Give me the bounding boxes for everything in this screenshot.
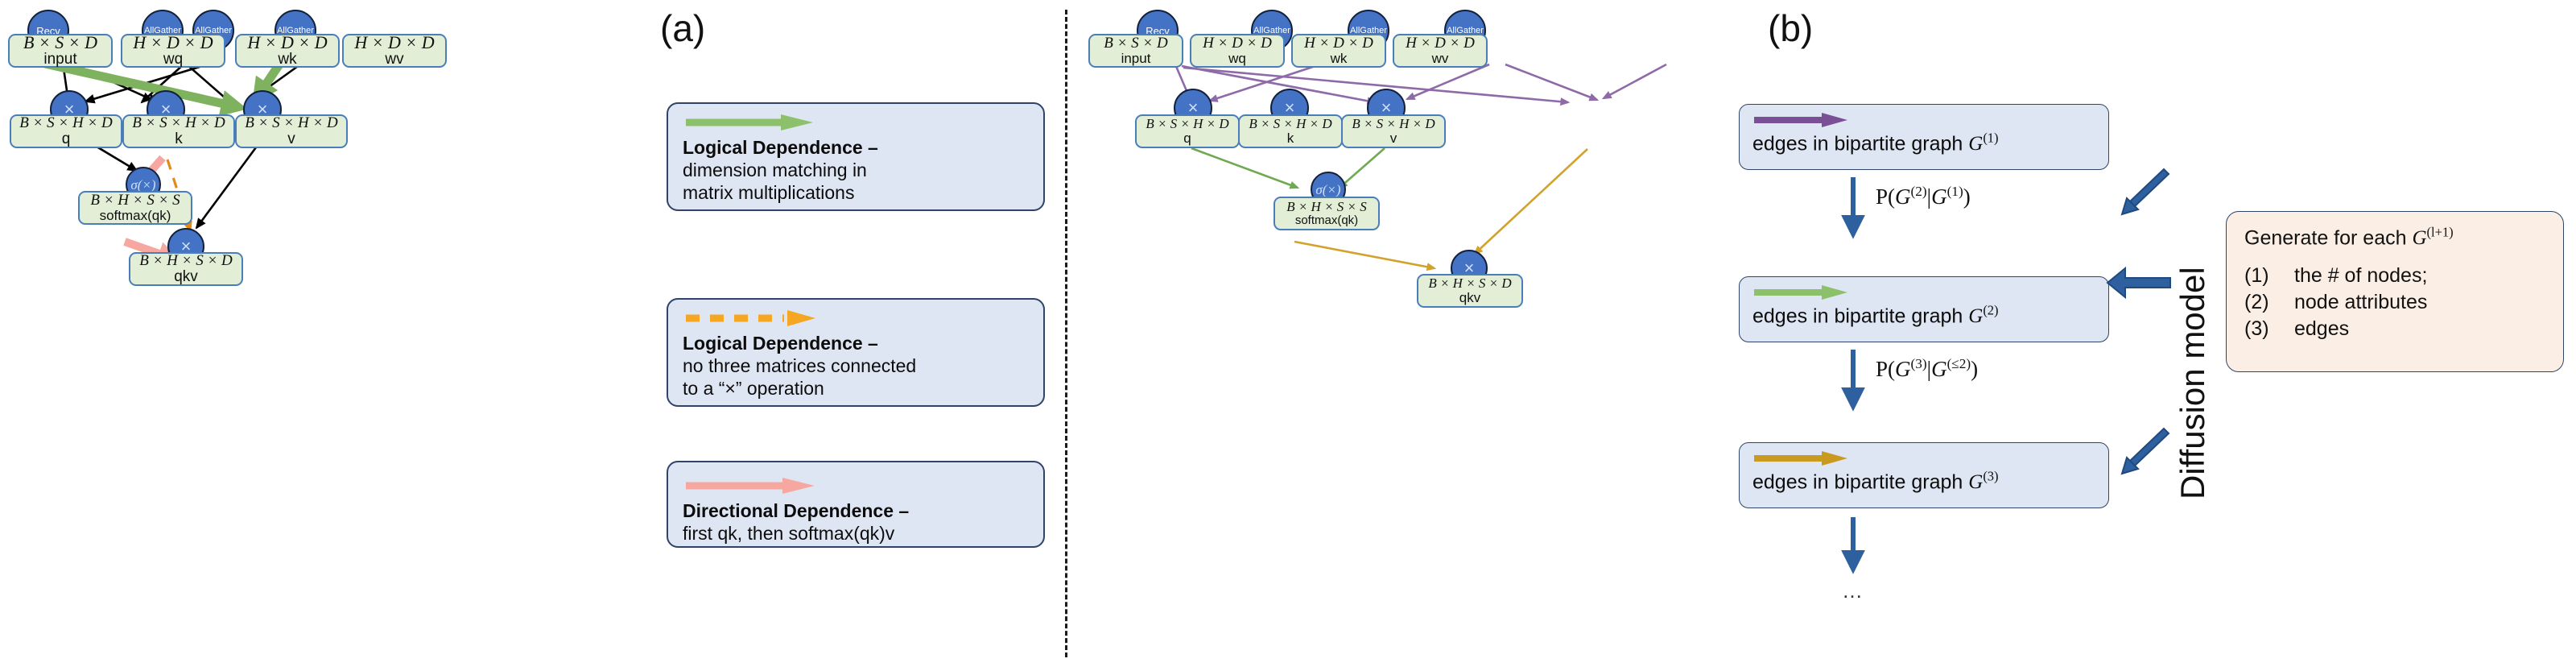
tensor-dims: H × D × D <box>1203 35 1272 52</box>
graph-superscript: (l+1) <box>2427 225 2454 240</box>
tensor-dims: B × H × S × S <box>1286 200 1367 214</box>
graph-superscript: (1) <box>1983 130 1998 146</box>
tensor-box-wk-b: H × D × D wk <box>1291 34 1386 68</box>
tensor-box-wq-b: H × D × D wq <box>1190 34 1285 68</box>
generate-item-number: (2) <box>2244 289 2294 316</box>
transition-arrow-2 <box>1843 348 2004 420</box>
tensor-name: qkv <box>174 269 198 286</box>
tensor-box-k-b: B × S × H × D k <box>1238 114 1343 148</box>
tensor-dims: B × S × D <box>1104 35 1167 52</box>
tensor-dims: B × S × H × D <box>19 115 113 131</box>
generate-item-number: (1) <box>2244 263 2294 289</box>
generate-item-text: the # of nodes; <box>2294 263 2427 289</box>
tensor-dims: B × S × H × D <box>1352 117 1435 131</box>
tensor-name: wk <box>1331 52 1348 67</box>
tensor-name: q <box>1183 131 1191 147</box>
tensor-box-v: B × S × H × D v <box>235 114 348 148</box>
tensor-box-wq: H × D × D wq <box>121 34 225 68</box>
tensor-name: input <box>43 52 76 68</box>
tensor-box-v-b: B × S × H × D v <box>1341 114 1446 148</box>
generate-heading-text: Generate for each <box>2244 226 2412 249</box>
generate-item-number: (3) <box>2244 316 2294 342</box>
tensor-dims: B × S × H × D <box>245 115 338 131</box>
tensor-box-wk: H × D × D wk <box>235 34 340 68</box>
panel-divider <box>1065 10 1067 657</box>
tensor-name: q <box>62 131 71 148</box>
tensor-dims: B × H × S × D <box>139 253 233 269</box>
graph-symbol: G <box>1968 133 1983 155</box>
panel-b-edges <box>1095 0 1900 667</box>
transition-arrow-3 <box>1843 516 2004 588</box>
generate-item-text: node attributes <box>2294 289 2427 316</box>
tensor-name: input <box>1121 52 1151 67</box>
tensor-name: v <box>287 131 295 148</box>
tensor-name: wv <box>1432 52 1449 67</box>
op-node-label: σ(×) <box>1315 183 1340 197</box>
tensor-box-softmax-b: B × H × S × S softmax(qk) <box>1274 197 1380 230</box>
tensor-box-input: B × S × D input <box>8 34 113 68</box>
tensor-name: wq <box>163 52 183 68</box>
generate-item-2: (2) node attributes <box>2244 289 2545 316</box>
tensor-box-qkv-b: B × H × S × D qkv <box>1417 274 1523 308</box>
diffusion-model-arrows <box>2093 72 2206 572</box>
generate-card: Generate for each G(l+1) (1) the # of no… <box>2226 211 2564 372</box>
tensor-dims: B × S × D <box>23 33 97 52</box>
generate-item-1: (1) the # of nodes; <box>2244 263 2545 289</box>
tensor-dims: B × S × H × D <box>1146 117 1228 131</box>
tensor-box-wv: H × D × D wv <box>342 34 447 68</box>
tensor-dims: B × H × S × D <box>1428 276 1511 291</box>
tensor-box-wv-b: H × D × D wv <box>1393 34 1488 68</box>
tensor-box-input-b: B × S × D input <box>1088 34 1183 68</box>
tensor-dims: H × D × D <box>133 33 213 52</box>
transition-arrow-1 <box>1843 176 2004 248</box>
tensor-box-softmax: B × H × S × S softmax(qk) <box>78 191 192 225</box>
generate-item-text: edges <box>2294 316 2349 342</box>
tensor-name: wk <box>278 52 296 68</box>
tensor-name: wq <box>1228 52 1246 67</box>
tensor-dims: B × S × H × D <box>132 115 225 131</box>
graph-superscript: (3) <box>1983 469 1998 484</box>
tensor-dims: H × D × D <box>1406 35 1475 52</box>
tensor-name: k <box>175 131 183 148</box>
tensor-name: qkv <box>1459 291 1480 306</box>
graph-symbol: G <box>1968 305 1983 327</box>
tensor-box-qkv: B × H × S × D qkv <box>129 252 243 286</box>
tensor-dims: H × D × D <box>247 33 327 52</box>
figure-canvas: (a) <box>0 0 2576 667</box>
tensor-dims: H × D × D <box>354 33 434 52</box>
tensor-box-q: B × S × H × D q <box>10 114 122 148</box>
tensor-name: softmax(qk) <box>1295 214 1358 228</box>
tensor-dims: H × D × D <box>1304 35 1373 52</box>
tensor-box-q-b: B × S × H × D q <box>1135 114 1240 148</box>
tensor-dims: B × S × H × D <box>1249 117 1331 131</box>
graph-superscript: (2) <box>1983 303 1998 318</box>
tensor-name: k <box>1287 131 1294 147</box>
tensor-box-k: B × S × H × D k <box>122 114 235 148</box>
op-node-label: σ(×) <box>130 178 155 192</box>
graph-symbol: G <box>1968 471 1983 493</box>
generate-card-heading: Generate for each G(l+1) <box>2244 225 2545 250</box>
graph-symbol: G <box>2412 227 2426 249</box>
tensor-name: wv <box>385 52 403 68</box>
tensor-dims: B × H × S × S <box>90 193 180 209</box>
tensor-name: softmax(qk) <box>100 209 171 224</box>
generate-item-3: (3) edges <box>2244 316 2545 342</box>
tensor-name: v <box>1390 131 1397 147</box>
